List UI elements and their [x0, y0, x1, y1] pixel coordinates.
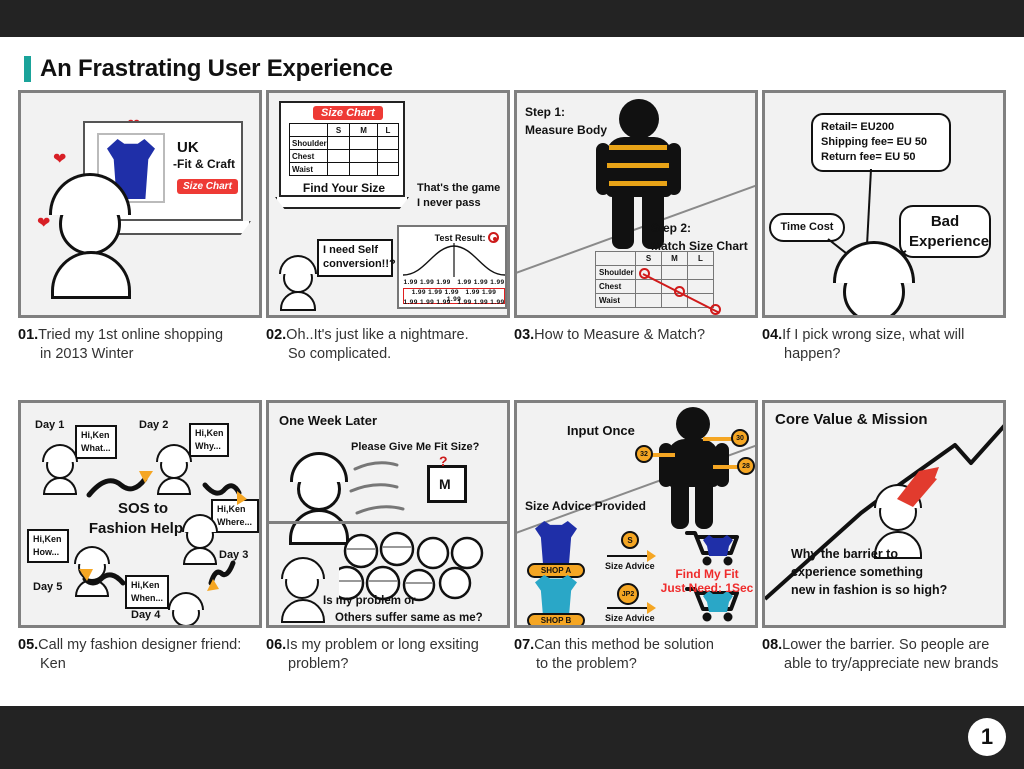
figure-leg-left: [612, 191, 634, 249]
avatar-body: [281, 599, 325, 623]
cost-line-3: Return fee= EU 50: [821, 150, 941, 165]
panel-03-art: Step 1: Measure Body: [514, 90, 758, 318]
day-bubble-5: Hi,Ken How...: [27, 529, 69, 563]
row-waist: Waist: [596, 294, 636, 308]
caption-number: 07.: [514, 637, 534, 653]
cell: [662, 266, 688, 280]
shop-a-arrow: [607, 555, 649, 557]
cell: [327, 150, 350, 163]
day-label-1: Day 1: [35, 419, 64, 431]
panel-04-art: Retail= EU200 Shipping fee= EU 50 Return…: [762, 90, 1006, 318]
measure-badge-32: 32: [635, 445, 653, 463]
match-marker: [674, 286, 685, 297]
body-line-3: new in fashion is so high?: [791, 581, 1001, 599]
avatar-body: [75, 579, 109, 597]
day-bubble-3: Hi,Ken Where...: [211, 499, 259, 533]
table-corner: [290, 124, 328, 137]
body-line-1: Why the barrier to: [791, 545, 1001, 563]
panel-06-art: One Week Later Please Give Me Fit Size?: [266, 400, 510, 628]
bell-curve-chart: [401, 243, 507, 277]
find-your-size-label: Find Your Size: [281, 181, 407, 195]
caption-04: 04.If I pick wrong size, what will happe…: [762, 326, 1002, 363]
caption-line-2: to the problem?: [514, 655, 754, 674]
match-marker: [639, 268, 650, 279]
caption-05: 05.Call my fashion designer friend: Ken: [18, 636, 258, 673]
bottom-line-2: Others suffer same as me?: [323, 610, 483, 627]
avatar-body: [183, 547, 217, 565]
number-row: 1.99 1.99 1.99 1.99 1.99 1.99: [403, 279, 505, 286]
panel-07-art: Input Once 30: [514, 400, 758, 628]
target-icon: [488, 232, 499, 243]
box-size-label: M: [439, 476, 451, 492]
caption-02: 02.Oh..It's just like a nightmare. So co…: [266, 326, 506, 363]
caption-line-2: happen?: [762, 345, 1002, 364]
core-value-body: Why the barrier to experience something …: [791, 545, 1001, 599]
game-text-line-1: That's the game: [417, 181, 510, 196]
row-shoulder: Shoulder: [596, 266, 636, 280]
page-number-badge: 1: [968, 718, 1006, 756]
col-l: L: [688, 252, 714, 266]
shop-a-advice-label: Size Advice: [605, 561, 655, 571]
caption-number: 04.: [762, 327, 782, 343]
caption-08: 08.Lower the barrier. So people are able…: [762, 636, 1002, 673]
panel-cell-06: One Week Later Please Give Me Fit Size?: [266, 400, 514, 673]
game-text-line-2: I never pass: [417, 196, 510, 211]
caption-line-1: If I pick wrong size, what will: [782, 327, 964, 343]
cell: [327, 163, 350, 176]
one-week-later-label: One Week Later: [279, 413, 377, 428]
day-bubble-1: Hi,Ken What...: [75, 425, 117, 459]
size-chart-chip[interactable]: Size Chart: [177, 179, 238, 194]
avatar-cap: [279, 255, 317, 274]
number-row: 1.99 1.99 1.99 1.99 1.99 1.99: [403, 299, 505, 306]
measure-badge-28: 28: [737, 457, 755, 475]
top-bar: [0, 0, 1024, 37]
step2-label: Step 2: Match Size Chart: [651, 219, 748, 255]
size-chart-table: S M L Shoulder Chest Waist: [289, 123, 399, 176]
panel-row-2: Day 1 Hi,Ken What... Day 2 Hi,Ken: [0, 400, 1024, 710]
avatar-cap: [42, 444, 78, 462]
caption-03: 03.How to Measure & Match?: [514, 326, 754, 345]
heart-icon: ❤: [53, 149, 66, 169]
avatar-body: [43, 477, 77, 495]
cell: [636, 294, 662, 308]
caption-number: 01.: [18, 327, 38, 343]
step1-label: Step 1: Measure Body: [525, 103, 607, 139]
find-my-fit-text: Find My Fit Just Need: 1Sec: [653, 567, 758, 596]
avatar-body: [280, 291, 316, 311]
shop-b-advice-label: Size Advice: [605, 613, 655, 623]
avatar-cap: [74, 546, 110, 564]
avatar-body: [51, 251, 131, 299]
avatar-body: [157, 477, 191, 495]
figure-leg-right: [695, 483, 713, 529]
shop-a-tag[interactable]: SHOP A: [527, 563, 585, 578]
caption-line-2: So complicated.: [266, 345, 506, 364]
title-text: An Frastrating User Experience: [40, 55, 393, 83]
caption-07: 07.Can this method be solution to the pr…: [514, 636, 754, 673]
shop-a-advice-badge: S: [621, 531, 639, 549]
speech-bubble: I need Self conversion!!?: [317, 239, 393, 277]
step2-line-1: Step 2:: [651, 219, 748, 237]
caption-line-1: Is my problem or long exsiting: [286, 637, 479, 653]
panel-cell-04: Retail= EU200 Shipping fee= EU 50 Return…: [762, 90, 1010, 363]
panel-cell-01: ❤ ❤ ❤ UK -Fit & Craft Size Chart: [18, 90, 266, 363]
cell: [688, 294, 714, 308]
time-cost-bubble: Time Cost: [769, 213, 845, 242]
measure-band-waist: [609, 181, 667, 186]
figure-leg-left: [671, 483, 689, 529]
panel-cell-03: Step 1: Measure Body: [514, 90, 762, 345]
match-marker: [710, 304, 721, 315]
bad-experience-bubble: Bad Experience: [899, 205, 991, 258]
step1-line-2: Measure Body: [525, 121, 607, 139]
caption-line-2: Ken: [18, 655, 258, 674]
caption-line-1: How to Measure & Match?: [534, 327, 705, 343]
panel-cell-07: Input Once 30: [514, 400, 762, 673]
bubble-leader-line: [866, 169, 872, 249]
figure-arm-left: [659, 443, 673, 487]
shop-a-garment: [535, 521, 577, 569]
panel-08-art: Core Value & Mission: [762, 400, 1006, 628]
shop-b-arrow: [607, 607, 649, 609]
cell: [350, 150, 377, 163]
bottom-bar: [0, 706, 1024, 769]
measure-band-chest: [607, 163, 669, 168]
measure-connector: [651, 453, 675, 457]
panel-divider: [269, 521, 510, 524]
test-result-label: Test Result:: [435, 230, 499, 243]
panel-cell-08: Core Value & Mission: [762, 400, 1010, 673]
size-chart-title: Size Chart: [313, 106, 383, 120]
step1-line-1: Step 1:: [525, 103, 607, 121]
caption-line-1: Tried my 1st online shopping: [38, 327, 223, 343]
size-advice-provided-label: Size Advice Provided: [525, 499, 646, 513]
panel-02-art: Size Chart S M L Shoulder Chest: [266, 90, 510, 318]
row-chest: Chest: [290, 150, 328, 163]
box-question-mark: ?: [439, 453, 448, 469]
day-label-4: Day 4: [131, 609, 160, 621]
shop-b-advice-badge: JP2: [617, 583, 639, 605]
panel-05-art: Day 1 Hi,Ken What... Day 2 Hi,Ken: [18, 400, 262, 628]
time-cost-label: Time Cost: [781, 221, 834, 233]
cost-line-1: Retail= EU200: [821, 120, 941, 135]
cell: [688, 280, 714, 294]
measure-band-shoulder: [609, 145, 667, 150]
panel-grid: ❤ ❤ ❤ UK -Fit & Craft Size Chart: [0, 90, 1024, 710]
cell: [377, 163, 398, 176]
input-once-label: Input Once: [567, 423, 635, 438]
cost-bubble: Retail= EU200 Shipping fee= EU 50 Return…: [811, 113, 951, 172]
parcel-box-icon: M: [427, 465, 467, 503]
col-s: S: [327, 124, 350, 137]
caption-line-1: Oh..It's just like a nightmare.: [286, 327, 468, 343]
caption-line-2: able to try/appreciate new brands: [762, 655, 1002, 674]
heart-icon: ❤: [37, 213, 50, 233]
caption-number: 06.: [266, 637, 286, 653]
col-l: L: [377, 124, 398, 137]
findfit-line-1: Find My Fit: [653, 567, 758, 581]
bubble-line-2: conversion!!?: [323, 258, 387, 272]
avatar-cap: [168, 592, 204, 610]
bottom-line-1: Is my problem or: [323, 593, 483, 610]
caption-number: 08.: [762, 637, 782, 653]
page-title: An Frastrating User Experience: [24, 55, 393, 83]
test-result-card: Test Result: 1.99 1.99 1.99 1.99 1.99 1.…: [397, 225, 507, 309]
panel-01-art: ❤ ❤ ❤ UK -Fit & Craft Size Chart: [18, 90, 262, 318]
size-chart-card: Size Chart S M L Shoulder Chest: [279, 101, 405, 197]
day-bubble-2: Hi,Ken Why...: [189, 423, 229, 457]
cell: [377, 150, 398, 163]
panel-row-1: ❤ ❤ ❤ UK -Fit & Craft Size Chart: [0, 90, 1024, 400]
caption-number: 02.: [266, 327, 286, 343]
body-line-2: experience something: [791, 563, 1001, 581]
cell: [688, 266, 714, 280]
bottom-question: Is my problem or Others suffer same as m…: [323, 593, 483, 626]
row-shoulder: Shoulder: [290, 137, 328, 150]
shop-b-tag[interactable]: SHOP B: [527, 613, 585, 628]
row-waist: Waist: [290, 163, 328, 176]
brand-tagline: -Fit & Craft: [173, 157, 235, 171]
day-label-3: Day 3: [219, 549, 248, 561]
row-chest: Chest: [596, 280, 636, 294]
day-label-5: Day 5: [33, 581, 62, 593]
figure-arm-left: [596, 143, 610, 195]
bubble-line-1: I need Self: [323, 244, 387, 258]
cost-line-2: Shipping fee= EU 50: [821, 135, 941, 150]
col-s: S: [636, 252, 662, 266]
col-m: M: [350, 124, 377, 137]
caption-line-2: in 2013 Winter: [18, 345, 258, 364]
cell: [350, 137, 377, 150]
caption-number: 05.: [18, 637, 38, 653]
title-accent-bar: [24, 56, 31, 82]
caption-06: 06.Is my problem or long exsiting proble…: [266, 636, 506, 673]
avatar-body: [169, 625, 203, 628]
day-label-2: Day 2: [139, 419, 168, 431]
caption-line-1: Lower the barrier. So people are: [782, 637, 989, 653]
figure-head: [676, 407, 710, 441]
size-chart-card-base: [275, 197, 409, 209]
caption-line-1: Can this method be solution: [534, 637, 714, 653]
panel-cell-05: Day 1 Hi,Ken What... Day 2 Hi,Ken: [18, 400, 266, 673]
bad-line-2: Experience: [909, 232, 981, 252]
cell: [350, 163, 377, 176]
caption-line-2: problem?: [266, 655, 506, 674]
avatar-cap: [156, 444, 192, 462]
cart-icon: [683, 527, 743, 569]
slide-canvas: An Frastrating User Experience ❤ ❤ ❤ UK: [0, 0, 1024, 769]
cell: [377, 137, 398, 150]
caption-line-1: Call my fashion designer friend:: [38, 637, 241, 653]
table-corner: [596, 252, 636, 266]
brand-label: UK: [177, 139, 199, 156]
figure-arm-right: [667, 143, 681, 195]
panel-cell-02: Size Chart S M L Shoulder Chest: [266, 90, 514, 363]
measure-badge-30: 30: [731, 429, 749, 447]
game-text: That's the game I never pass: [417, 181, 510, 211]
col-m: M: [662, 252, 688, 266]
figure-head: [619, 99, 659, 139]
figure-torso: [667, 439, 719, 487]
test-result-text: Test Result:: [435, 233, 486, 243]
day-bubble-4: Hi,Ken When...: [125, 575, 169, 609]
bad-line-1: Bad: [909, 212, 981, 232]
findfit-line-2: Just Need: 1Sec: [653, 581, 758, 595]
caption-01: 01.Tried my 1st online shopping in 2013 …: [18, 326, 258, 363]
pickaxe-icon: [893, 465, 963, 515]
cell: [327, 137, 350, 150]
caption-number: 03.: [514, 327, 534, 343]
